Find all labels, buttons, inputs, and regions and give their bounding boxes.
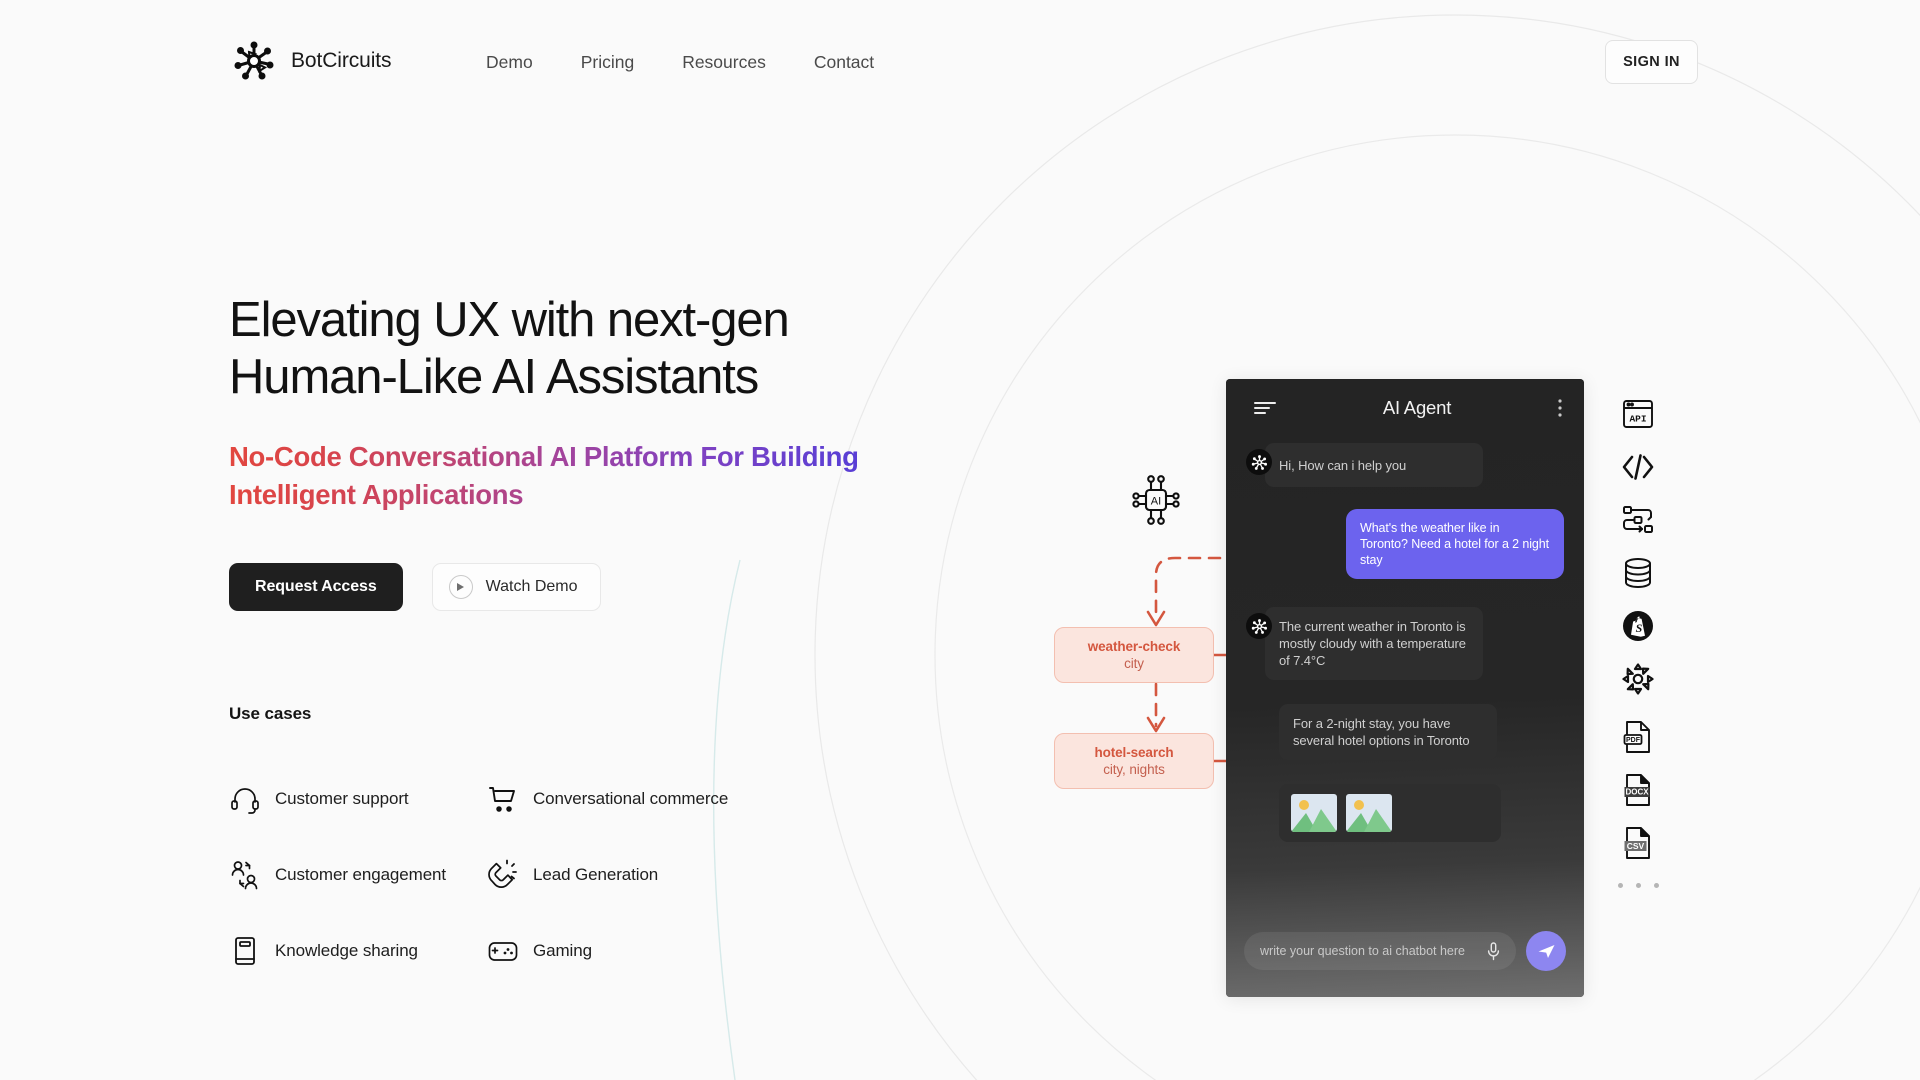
page-title: Elevating UX with next-gen Human-Like AI…: [229, 292, 949, 406]
integration-code[interactable]: [1616, 445, 1660, 489]
headline-line-1: Elevating UX with next-gen: [229, 293, 789, 347]
integration-shopify[interactable]: S: [1616, 604, 1660, 648]
use-case-gaming[interactable]: Gaming: [487, 935, 949, 967]
chat-input-wrapper[interactable]: [1244, 932, 1516, 970]
hero-section: Elevating UX with next-gen Human-Like AI…: [229, 292, 949, 989]
landing-page: BotCircuits Demo Pricing Resources Conta…: [0, 0, 1920, 1080]
chat-attachments: [1279, 784, 1501, 842]
gamepad-icon: [487, 935, 519, 967]
sign-in-button[interactable]: SIGN IN: [1605, 40, 1698, 84]
hero-subheadline: No-Code Conversational AI Platform For B…: [229, 438, 919, 514]
database-icon: [1623, 557, 1653, 589]
nav-item-pricing[interactable]: Pricing: [557, 49, 659, 75]
users-exchange-icon: [229, 859, 261, 891]
image-thumbnail-icon[interactable]: [1346, 794, 1392, 832]
nav-item-contact[interactable]: Contact: [790, 49, 898, 75]
brand-name: BotCircuits: [291, 49, 391, 73]
bot-avatar-icon: [1246, 613, 1272, 639]
use-case-label: Customer support: [275, 789, 409, 809]
docx-file-icon: DOCX: [1623, 773, 1653, 807]
use-case-customer-engagement[interactable]: Customer engagement: [229, 859, 487, 891]
flow-node-hotel-search[interactable]: hotel-search city, nights: [1054, 733, 1214, 789]
chat-composer: [1226, 905, 1584, 997]
integrations-rail: API: [1608, 392, 1668, 888]
integration-csv[interactable]: CSV: [1616, 821, 1660, 865]
use-case-knowledge-sharing[interactable]: Knowledge sharing: [229, 935, 487, 967]
watch-demo-button[interactable]: Watch Demo: [432, 563, 601, 611]
use-case-customer-support[interactable]: Customer support: [229, 783, 487, 815]
integrations-more-dots: [1608, 883, 1668, 888]
book-icon: [229, 935, 261, 967]
botcircuits-node-logo-icon: [229, 36, 279, 86]
code-brackets-icon: [1621, 452, 1655, 482]
use-case-label: Customer engagement: [275, 865, 446, 885]
shopify-icon: S: [1622, 610, 1654, 642]
use-case-label: Gaming: [533, 941, 592, 961]
flow-node-params: city: [1124, 656, 1144, 671]
headline-line-2: Human-Like AI Assistants: [229, 350, 758, 404]
integration-zapier[interactable]: [1616, 657, 1660, 701]
api-window-icon: API: [1621, 397, 1655, 431]
headset-icon: [229, 783, 261, 815]
play-icon: [449, 575, 473, 599]
chat-header: AI Agent: [1226, 379, 1584, 437]
pdf-file-icon: PDF: [1623, 720, 1653, 754]
watch-demo-label: Watch Demo: [486, 578, 578, 596]
use-case-label: Conversational commerce: [533, 789, 728, 809]
integration-database[interactable]: [1616, 551, 1660, 595]
dot: [1654, 883, 1659, 888]
chat-message-bot: The current weather in Toronto is mostly…: [1246, 607, 1564, 680]
magnet-icon: [487, 859, 519, 891]
svg-text:DOCX: DOCX: [1625, 788, 1649, 797]
nav-item-demo[interactable]: Demo: [462, 49, 557, 75]
kebab-menu-icon[interactable]: [1558, 399, 1562, 417]
integration-docx[interactable]: DOCX: [1616, 768, 1660, 812]
send-paper-plane-icon: [1537, 942, 1556, 961]
brand-logo-link[interactable]: BotCircuits: [229, 36, 391, 86]
use-case-lead-generation[interactable]: Lead Generation: [487, 859, 949, 891]
use-cases-grid: Customer support Conversational commerce: [229, 761, 949, 989]
dot: [1618, 883, 1623, 888]
flow-node-weather-check[interactable]: weather-check city: [1054, 627, 1214, 683]
image-thumbnail-icon[interactable]: [1291, 794, 1337, 832]
main-nav: Demo Pricing Resources Contact: [462, 49, 898, 75]
chat-mockup: AI Agent: [1226, 379, 1584, 997]
hero-cta-row: Request Access Watch Demo: [229, 563, 949, 611]
microphone-icon[interactable]: [1487, 942, 1500, 961]
chat-input[interactable]: [1260, 944, 1479, 958]
dot: [1636, 883, 1641, 888]
nav-item-resources[interactable]: Resources: [658, 49, 790, 75]
chat-bubble-text: The current weather in Toronto is mostly…: [1265, 607, 1483, 680]
svg-text:CSV: CSV: [1627, 841, 1645, 851]
workflow-nodes-icon: [1621, 505, 1655, 535]
use-case-label: Lead Generation: [533, 865, 658, 885]
use-case-label: Knowledge sharing: [275, 941, 418, 961]
chat-bubble-text: What's the weather like in Toronto? Need…: [1346, 509, 1564, 579]
bot-avatar-icon: [1246, 449, 1272, 475]
flow-node-title: hotel-search: [1094, 745, 1173, 760]
zapier-icon: [1622, 663, 1654, 695]
use-cases-section: Use cases Customer support: [229, 704, 949, 989]
chat-message-list: Hi, How can i help you What's the weathe…: [1226, 437, 1584, 905]
integration-api[interactable]: API: [1616, 392, 1660, 436]
svg-text:API: API: [1629, 414, 1646, 425]
svg-text:PDF: PDF: [1626, 737, 1641, 744]
flow-node-title: weather-check: [1088, 639, 1181, 654]
integration-pdf[interactable]: PDF: [1616, 715, 1660, 759]
send-button[interactable]: [1526, 931, 1566, 971]
flow-node-params: city, nights: [1103, 762, 1165, 777]
chat-bubble-text: Hi, How can i help you: [1265, 443, 1483, 487]
chat-message-user: What's the weather like in Toronto? Need…: [1246, 509, 1564, 579]
hamburger-icon[interactable]: [1254, 401, 1276, 415]
shopping-cart-icon: [487, 783, 519, 815]
site-header: BotCircuits Demo Pricing Resources Conta…: [0, 0, 1920, 122]
chat-message-bot: For a 2-night stay, you have several hot…: [1246, 704, 1564, 760]
chat-message-bot: Hi, How can i help you: [1246, 443, 1564, 487]
svg-text:S: S: [1636, 621, 1643, 635]
use-cases-title: Use cases: [229, 704, 949, 724]
use-case-conversational-commerce[interactable]: Conversational commerce: [487, 783, 949, 815]
request-access-button[interactable]: Request Access: [229, 563, 403, 611]
csv-file-icon: CSV: [1623, 826, 1653, 860]
chat-bubble-text: For a 2-night stay, you have several hot…: [1279, 704, 1497, 760]
integration-workflow[interactable]: [1616, 498, 1660, 542]
chat-title: AI Agent: [1276, 397, 1558, 419]
